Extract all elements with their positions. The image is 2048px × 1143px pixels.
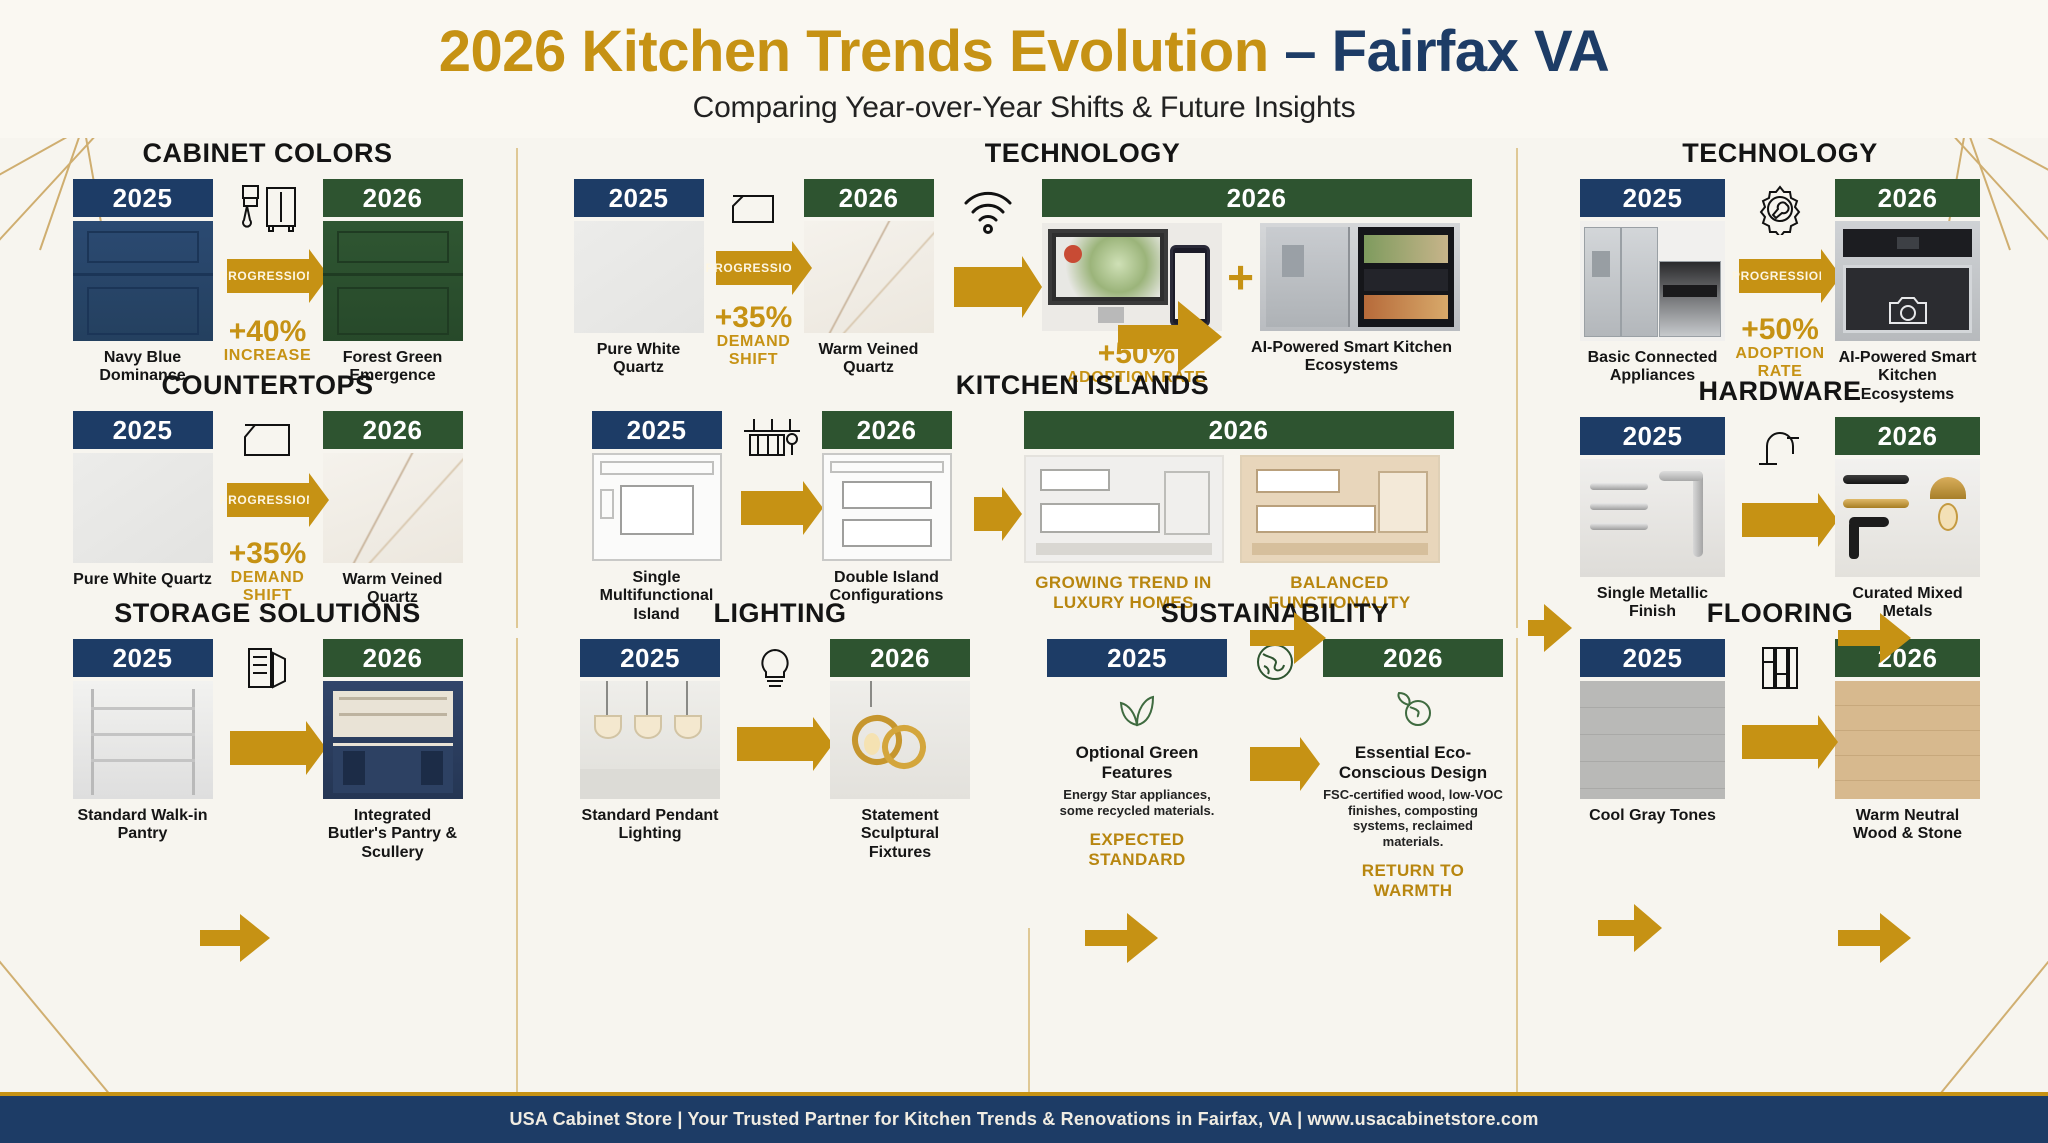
year-badge-2026: 2026 <box>1835 639 1980 677</box>
white-quartz-swatch <box>73 453 213 563</box>
cabinet-2025-card: 2025 Navy Blue Dominance <box>73 179 213 386</box>
lighting-arrow: . <box>737 727 813 761</box>
progression-arrow: PROGRESSION <box>227 259 309 293</box>
year-badge-2025: 2025 <box>73 639 213 677</box>
sustainability-2026-detail: FSC-certified wood, low-VOC finishes, co… <box>1323 787 1503 849</box>
pantry-door-icon <box>239 639 297 697</box>
sustainability-transition: . <box>1227 639 1323 781</box>
countertop-2026-card: 2026 Warm Veined Quartz <box>323 411 463 608</box>
island-transition-1: . <box>722 411 822 525</box>
year-badge-2026: 2026 <box>1835 417 1980 455</box>
plus-symbol: + <box>1222 250 1260 304</box>
island-2026-card: 2026 Double Island Configurations <box>822 411 952 606</box>
year-badge-2026: 2026 <box>804 179 934 217</box>
footer-text: USA Cabinet Store | Your Trusted Partner… <box>509 1109 1538 1130</box>
tech-right-metric-value: +50% <box>1741 315 1819 345</box>
progression-label: PROGRESSION <box>706 261 802 275</box>
sustainability-2026-heading: Essential Eco-Conscious Design <box>1323 743 1503 782</box>
year-badge-2025: 2025 <box>580 639 720 677</box>
year-badge-2025: 2025 <box>574 179 704 217</box>
smart-oven-image <box>1835 221 1980 341</box>
section-title-lighting: LIGHTING <box>540 598 1020 629</box>
walk-in-pantry-image <box>73 681 213 799</box>
footer: USA Cabinet Store | Your Trusted Partner… <box>0 1096 2048 1143</box>
faucet-icon <box>1753 417 1807 475</box>
warm-wood-flooring-swatch <box>1835 681 1980 799</box>
connected-appliances-image <box>1580 221 1725 341</box>
year-badge-2026: 2026 <box>822 411 952 449</box>
year-badge-2025: 2025 <box>73 179 213 217</box>
countertop-2025-caption: Pure White Quartz <box>73 571 213 589</box>
pendant-lighting-image <box>580 681 720 799</box>
section-title-hardware: HARDWARE <box>1530 376 2030 407</box>
progression-label: PROGRESSION <box>220 269 316 283</box>
tech-mid-2025-card: 2025 Pure White Quartz <box>574 179 704 378</box>
column-divider-right-2 <box>1516 638 1518 1118</box>
sustainability-2025-heading: Optional Green Features <box>1047 743 1227 782</box>
header: 2026 Kitchen Trends Evolution – Fairfax … <box>0 0 2048 138</box>
island-arrow-1: . <box>741 491 803 525</box>
storage-2026-card: 2026 Integrated Butler's Pantry & Sculle… <box>323 639 463 862</box>
leaf-globe-icon <box>1323 685 1503 735</box>
leaf-icon <box>1047 685 1227 735</box>
storage-arrow: . <box>230 731 306 765</box>
year-badge-2026: 2026 <box>830 639 970 677</box>
hardware-arrow: . <box>1742 503 1818 537</box>
year-badge-2026: 2026 <box>323 411 463 449</box>
luxury-island-render <box>1024 455 1224 563</box>
progression-arrow: PROGRESSION <box>1739 259 1821 293</box>
title-navy: Fairfax VA <box>1332 19 1610 84</box>
sustainability-2025-card: 2025 Optional Green Features Energy Star… <box>1047 639 1227 869</box>
section-hardware: HARDWARE 2025 Single Metallic Finish <box>1530 376 2030 622</box>
gray-flooring-swatch <box>1580 681 1725 799</box>
section-cabinet-colors: CABINET COLORS 2025 Navy Blue Dominance <box>20 138 515 386</box>
countertop-2025-card: 2025 Pure White Quartz <box>73 411 213 589</box>
tech-mid-transition-2: . <box>934 179 1042 307</box>
cabinet-metric-value: +40% <box>229 317 307 347</box>
globe-icon <box>1253 639 1297 685</box>
section-countertops: COUNTERTOPS 2025 Pure White Quartz <box>20 370 515 608</box>
year-badge-2025: 2025 <box>1580 179 1725 217</box>
year-badge-2026: 2026 <box>1042 179 1472 217</box>
board: CABINET COLORS 2025 Navy Blue Dominance <box>0 138 2048 1096</box>
storage-2026-caption: Integrated Butler's Pantry & Scullery <box>323 807 463 862</box>
storage-2025-caption: Standard Walk-in Pantry <box>73 807 213 844</box>
lighting-2025-caption: Standard Pendant Lighting <box>580 807 720 844</box>
page-subtitle: Comparing Year-over-Year Shifts & Future… <box>0 91 2048 125</box>
tech-right-transition: PROGRESSION +50% ADOPTION RATE <box>1725 179 1835 382</box>
section-kitchen-islands: KITCHEN ISLANDS 2025 Single Multifunctio… <box>530 370 1515 624</box>
column-divider-left-2 <box>516 638 518 1118</box>
tech-mid-arrow: . <box>954 267 1022 307</box>
plank-flooring-icon <box>1755 639 1805 697</box>
paint-brush-cabinet-icon <box>237 179 299 237</box>
year-badge-2026: 2026 <box>323 179 463 217</box>
hardware-2025-card: 2025 Single Metallic Finish <box>1580 417 1725 622</box>
title-dash: – <box>1284 19 1331 84</box>
section-storage-solutions: STORAGE SOLUTIONS 2025 Standard Walk-in … <box>20 598 515 862</box>
lighting-2026-card: 2026 Statement Sculptural Fixtures <box>830 639 970 862</box>
progression-label: PROGRESSION <box>220 493 316 507</box>
tech-mid-metric-value: +35% <box>715 303 793 333</box>
green-cabinet-swatch <box>323 221 463 341</box>
balanced-island-render <box>1240 455 1440 563</box>
flooring-2026-caption: Warm Neutral Wood & Stone <box>1835 807 1980 844</box>
island-arrow-2: . <box>974 497 1002 531</box>
infographic-page: 2026 Kitchen Trends Evolution – Fairfax … <box>0 0 2048 1143</box>
section-title-kitchen-islands: KITCHEN ISLANDS <box>650 370 1515 401</box>
storage-transition: . <box>213 639 323 765</box>
flooring-transition: . <box>1725 639 1835 759</box>
progression-label: PROGRESSION <box>1732 269 1828 283</box>
island-transition-2: . <box>952 411 1024 531</box>
column-divider-mid <box>1028 928 1030 1118</box>
year-badge-2025: 2025 <box>592 411 722 449</box>
tech-mid-transition-1: PROGRESSION +35% DEMAND SHIFT <box>704 179 804 370</box>
mixed-metals-image <box>1835 459 1980 577</box>
sustainability-2026-tag: RETURN TO WARMTH <box>1323 861 1503 900</box>
storage-2025-card: 2025 Standard Walk-in Pantry <box>73 639 213 844</box>
page-title: 2026 Kitchen Trends Evolution – Fairfax … <box>0 22 2048 83</box>
cabinet-transition: PROGRESSION +40% INCREASE <box>213 179 323 365</box>
island-2025-card: 2025 Single Multifunctional Island <box>592 411 722 624</box>
hardware-2026-card: 2026 Curated Mixed Metals <box>1835 417 1980 622</box>
countertop-slab-icon <box>237 411 299 469</box>
white-quartz-swatch <box>574 221 704 333</box>
countertop-metric-value: +35% <box>229 539 307 569</box>
countertop-slab-icon <box>725 179 783 231</box>
year-badge-2026: 2026 <box>1835 179 1980 217</box>
title-gold: 2026 Kitchen Trends Evolution <box>439 19 1285 84</box>
lighting-2026-caption: Statement Sculptural Fixtures <box>830 807 970 862</box>
tech-right-2025-card: 2025 Basic Connected Appliances <box>1580 179 1725 386</box>
section-technology-mid: TECHNOLOGY 2025 Pure White Quartz <box>530 138 1515 387</box>
wifi-icon <box>958 179 1018 241</box>
section-title-flooring: FLOORING <box>1530 598 2030 629</box>
section-technology-right: TECHNOLOGY 2025 Basic Connected Applianc… <box>1530 138 2030 404</box>
section-title-countertops: COUNTERTOPS <box>20 370 515 401</box>
cabinet-metric-label: INCREASE <box>224 347 311 365</box>
section-title-sustainability: SUSTAINABILITY <box>1040 598 1510 629</box>
section-lighting: LIGHTING 2025 Standard Pe <box>530 598 1020 862</box>
smart-display-image <box>1042 223 1222 331</box>
flooring-arrow: . <box>1742 725 1818 759</box>
year-badge-2025: 2025 <box>1580 417 1725 455</box>
year-badge-2025: 2025 <box>73 411 213 449</box>
lighting-transition: . <box>720 639 830 761</box>
lighting-2025-card: 2025 Standard Pendant Lighting <box>580 639 720 844</box>
sustainability-2026-card: 2026 Essential Eco-Conscious Design FSC-… <box>1323 639 1503 901</box>
section-title-technology-right: TECHNOLOGY <box>1530 138 2030 169</box>
hardware-transition: . <box>1725 417 1835 537</box>
island-2026-panel: 2026 <box>1024 411 1454 612</box>
single-island-plan <box>592 453 722 561</box>
sculptural-fixture-image <box>830 681 970 799</box>
tech-mid-metric-label: DEMAND SHIFT <box>704 333 804 370</box>
metallic-hardware-image <box>1580 459 1725 577</box>
tech-mid-2026-quartz-card: 2026 Warm Veined Quartz <box>804 179 934 378</box>
year-badge-2026: 2026 <box>323 639 463 677</box>
progression-arrow: PROGRESSION <box>716 251 792 285</box>
gear-wrench-icon <box>1752 179 1808 237</box>
navy-cabinet-swatch <box>73 221 213 341</box>
cabinet-2026-card: 2026 Forest Green Emergence <box>323 179 463 386</box>
countertop-transition: PROGRESSION +35% DEMAND SHIFT <box>213 411 323 606</box>
section-flooring: FLOORING 2025 Cool Gray Tones <box>1530 598 2030 844</box>
flooring-2025-card: 2025 Cool Gray Tones <box>1580 639 1725 825</box>
veined-quartz-swatch <box>804 221 934 333</box>
smart-fridge-image <box>1260 223 1460 331</box>
section-title-technology-mid: TECHNOLOGY <box>650 138 1515 169</box>
sustainability-arrow: . <box>1250 747 1300 781</box>
double-island-plan <box>822 453 952 561</box>
flooring-2026-card: 2026 Warm Neutral Wood & Stone <box>1835 639 1980 844</box>
tech-mid-2026-panel: 2026 + <box>1042 179 1472 387</box>
veined-quartz-swatch <box>323 453 463 563</box>
tech-mid-adoption-value: +50% <box>1042 339 1232 369</box>
column-divider-right <box>1516 148 1518 628</box>
section-title-storage: STORAGE SOLUTIONS <box>20 598 515 629</box>
section-title-cabinet-colors: CABINET COLORS <box>20 138 515 169</box>
island-stools-icon <box>740 411 804 463</box>
section-sustainability: SUSTAINABILITY 2025 Optional Green Featu… <box>1040 598 1510 901</box>
flooring-2025-caption: Cool Gray Tones <box>1580 807 1725 825</box>
year-badge-2026: 2026 <box>1024 411 1454 449</box>
lightbulb-icon <box>750 639 800 697</box>
year-badge-2026: 2026 <box>1323 639 1503 677</box>
year-badge-2025: 2025 <box>1580 639 1725 677</box>
sustainability-2025-tag: EXPECTED STANDARD <box>1047 830 1227 869</box>
sustainability-2025-detail: Energy Star appliances, some recycled ma… <box>1047 787 1227 818</box>
progression-arrow: PROGRESSION <box>227 483 309 517</box>
butlers-pantry-image <box>323 681 463 799</box>
column-divider-left <box>516 148 518 628</box>
tech-right-2026-card: 2026 AI-Powered Smart Kitchen Ecosystems <box>1835 179 1980 404</box>
year-badge-2025: 2025 <box>1047 639 1227 677</box>
